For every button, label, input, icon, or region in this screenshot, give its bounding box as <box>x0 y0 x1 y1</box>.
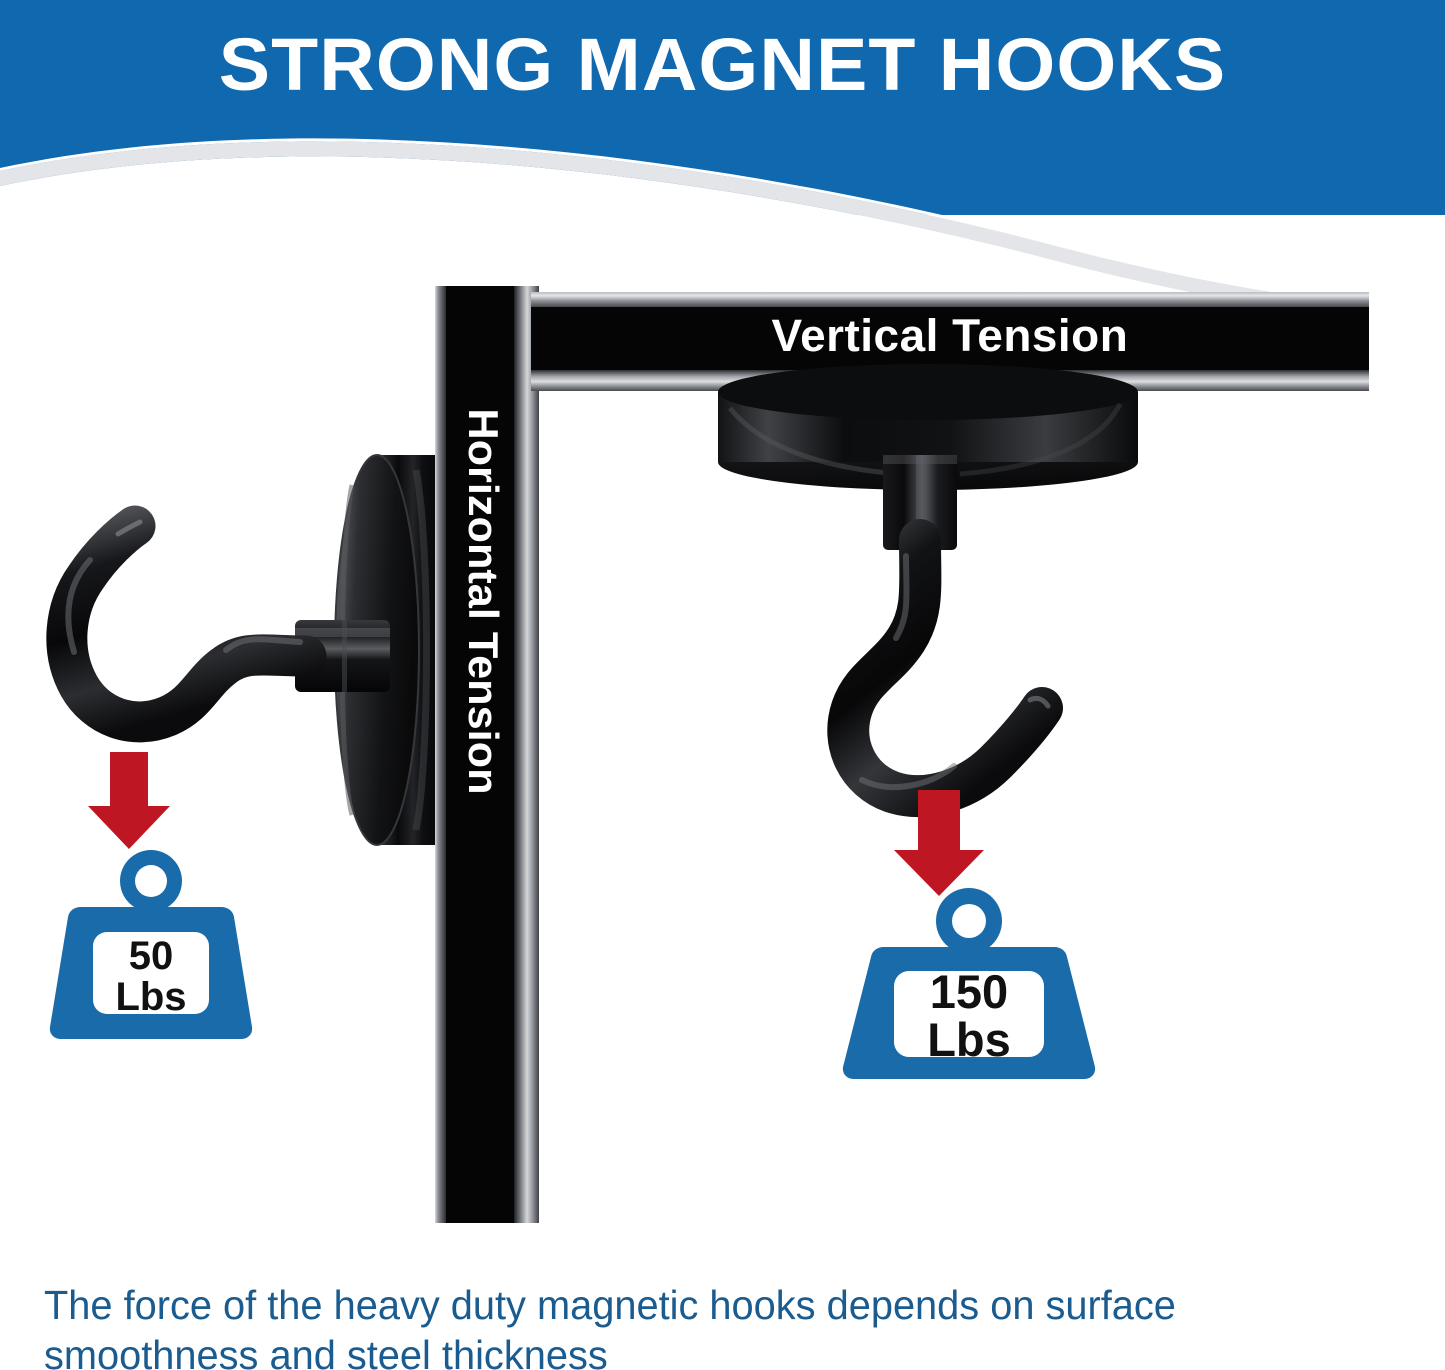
right-hook-stud <box>883 455 957 550</box>
left-hook-highlight <box>68 560 300 652</box>
right-hook-tip-highlight <box>1030 698 1048 706</box>
right-hook <box>848 540 1042 796</box>
vertical-tension-label: Vertical Tension <box>772 310 1129 362</box>
horizontal-tension-label: Horizontal Tension <box>459 408 507 794</box>
weight-badge-50lbs: 50 Lbs <box>46 845 256 1045</box>
horizontal-tension-label-wrap: Horizontal Tension <box>435 286 539 1223</box>
weight-icon <box>46 845 256 1045</box>
left-hook <box>67 526 306 722</box>
left-force-arrow <box>88 752 170 849</box>
left-hook-tip-highlight <box>118 522 140 534</box>
header-banner: STRONG MAGNET HOOKS <box>0 0 1445 215</box>
weight-badge-150lbs: 150 Lbs <box>838 885 1100 1085</box>
caption-line-2: smoothness and steel thickness <box>44 1331 1363 1370</box>
caption-line-1: The force of the heavy duty magnetic hoo… <box>44 1281 1363 1331</box>
infographic-page: STRONG MAGNET HOOKS <box>0 0 1445 1370</box>
page-title: STRONG MAGNET HOOKS <box>0 22 1445 107</box>
left-magnet-disc <box>335 455 439 845</box>
footer-caption: The force of the heavy duty magnetic hoo… <box>44 1281 1363 1370</box>
vertical-tension-label-wrap: Vertical Tension <box>531 296 1369 376</box>
left-hook-stud <box>295 620 390 692</box>
right-hook-highlight <box>862 556 954 787</box>
right-force-arrow <box>894 790 984 896</box>
weight-icon <box>838 885 1100 1085</box>
